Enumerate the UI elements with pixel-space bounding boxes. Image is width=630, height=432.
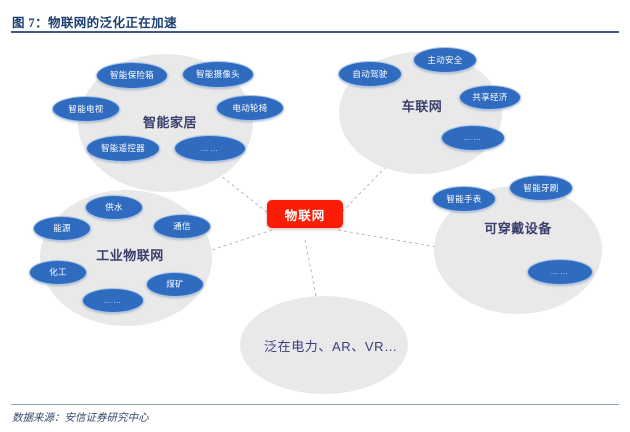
node-industrial-iot-5[interactable]: …… xyxy=(82,288,144,313)
cluster-title-others: 泛在电力、AR、VR… xyxy=(264,336,398,355)
node-industrial-iot-1[interactable]: 能源 xyxy=(33,216,91,241)
figure-header: 图 7：物联网的泛化正在加速 xyxy=(0,12,630,34)
node-smart-home-0[interactable]: 智能保险箱 xyxy=(96,62,168,89)
node-industrial-iot-4[interactable]: 煤矿 xyxy=(146,272,204,297)
node-industrial-iot-0[interactable]: 供水 xyxy=(85,195,143,220)
node-smart-home-3[interactable]: 电动轮椅 xyxy=(216,95,284,121)
page-title: 图 7：物联网的泛化正在加速 xyxy=(12,12,177,31)
node-smart-home-2[interactable]: 智能电视 xyxy=(52,96,120,122)
cluster-title-industrial-iot: 工业物联网 xyxy=(88,245,172,264)
footer-divider xyxy=(11,404,619,405)
node-wearables-0[interactable]: 智能手表 xyxy=(432,186,496,212)
node-smart-home-5[interactable]: …… xyxy=(174,135,246,162)
cluster-title-smart-home: 智能家居 xyxy=(132,112,208,131)
node-vehicle-network-3[interactable]: …… xyxy=(441,125,505,151)
center-node-iot[interactable]: 物联网 xyxy=(267,200,343,228)
title-divider xyxy=(11,31,619,33)
node-wearables-2[interactable]: …… xyxy=(527,259,593,285)
iot-mindmap-diagram: 智能家居 智能保险箱 智能摄像头 智能电视 电动轮椅 智能遥控器 …… 车联网 … xyxy=(0,34,630,402)
node-vehicle-network-0[interactable]: 自动驾驶 xyxy=(338,61,402,87)
node-industrial-iot-3[interactable]: 化工 xyxy=(29,260,87,285)
node-vehicle-network-1[interactable]: 主动安全 xyxy=(413,47,477,73)
node-smart-home-4[interactable]: 智能遥控器 xyxy=(86,135,160,162)
source-note: 数据来源：安信证券研究中心 xyxy=(12,410,149,425)
node-industrial-iot-2[interactable]: 通信 xyxy=(153,214,211,239)
cluster-title-wearables: 可穿戴设备 xyxy=(476,218,560,237)
node-vehicle-network-2[interactable]: 共享经济 xyxy=(459,85,521,110)
cluster-title-vehicle-network: 车联网 xyxy=(393,96,451,115)
node-smart-home-1[interactable]: 智能摄像头 xyxy=(182,61,254,88)
link-to-wearables xyxy=(338,230,448,249)
figure-container: 图 7：物联网的泛化正在加速 智能家居 智能保险箱 智能摄像头 智能电视 xyxy=(0,0,630,432)
node-wearables-1[interactable]: 智能牙刷 xyxy=(509,175,573,201)
